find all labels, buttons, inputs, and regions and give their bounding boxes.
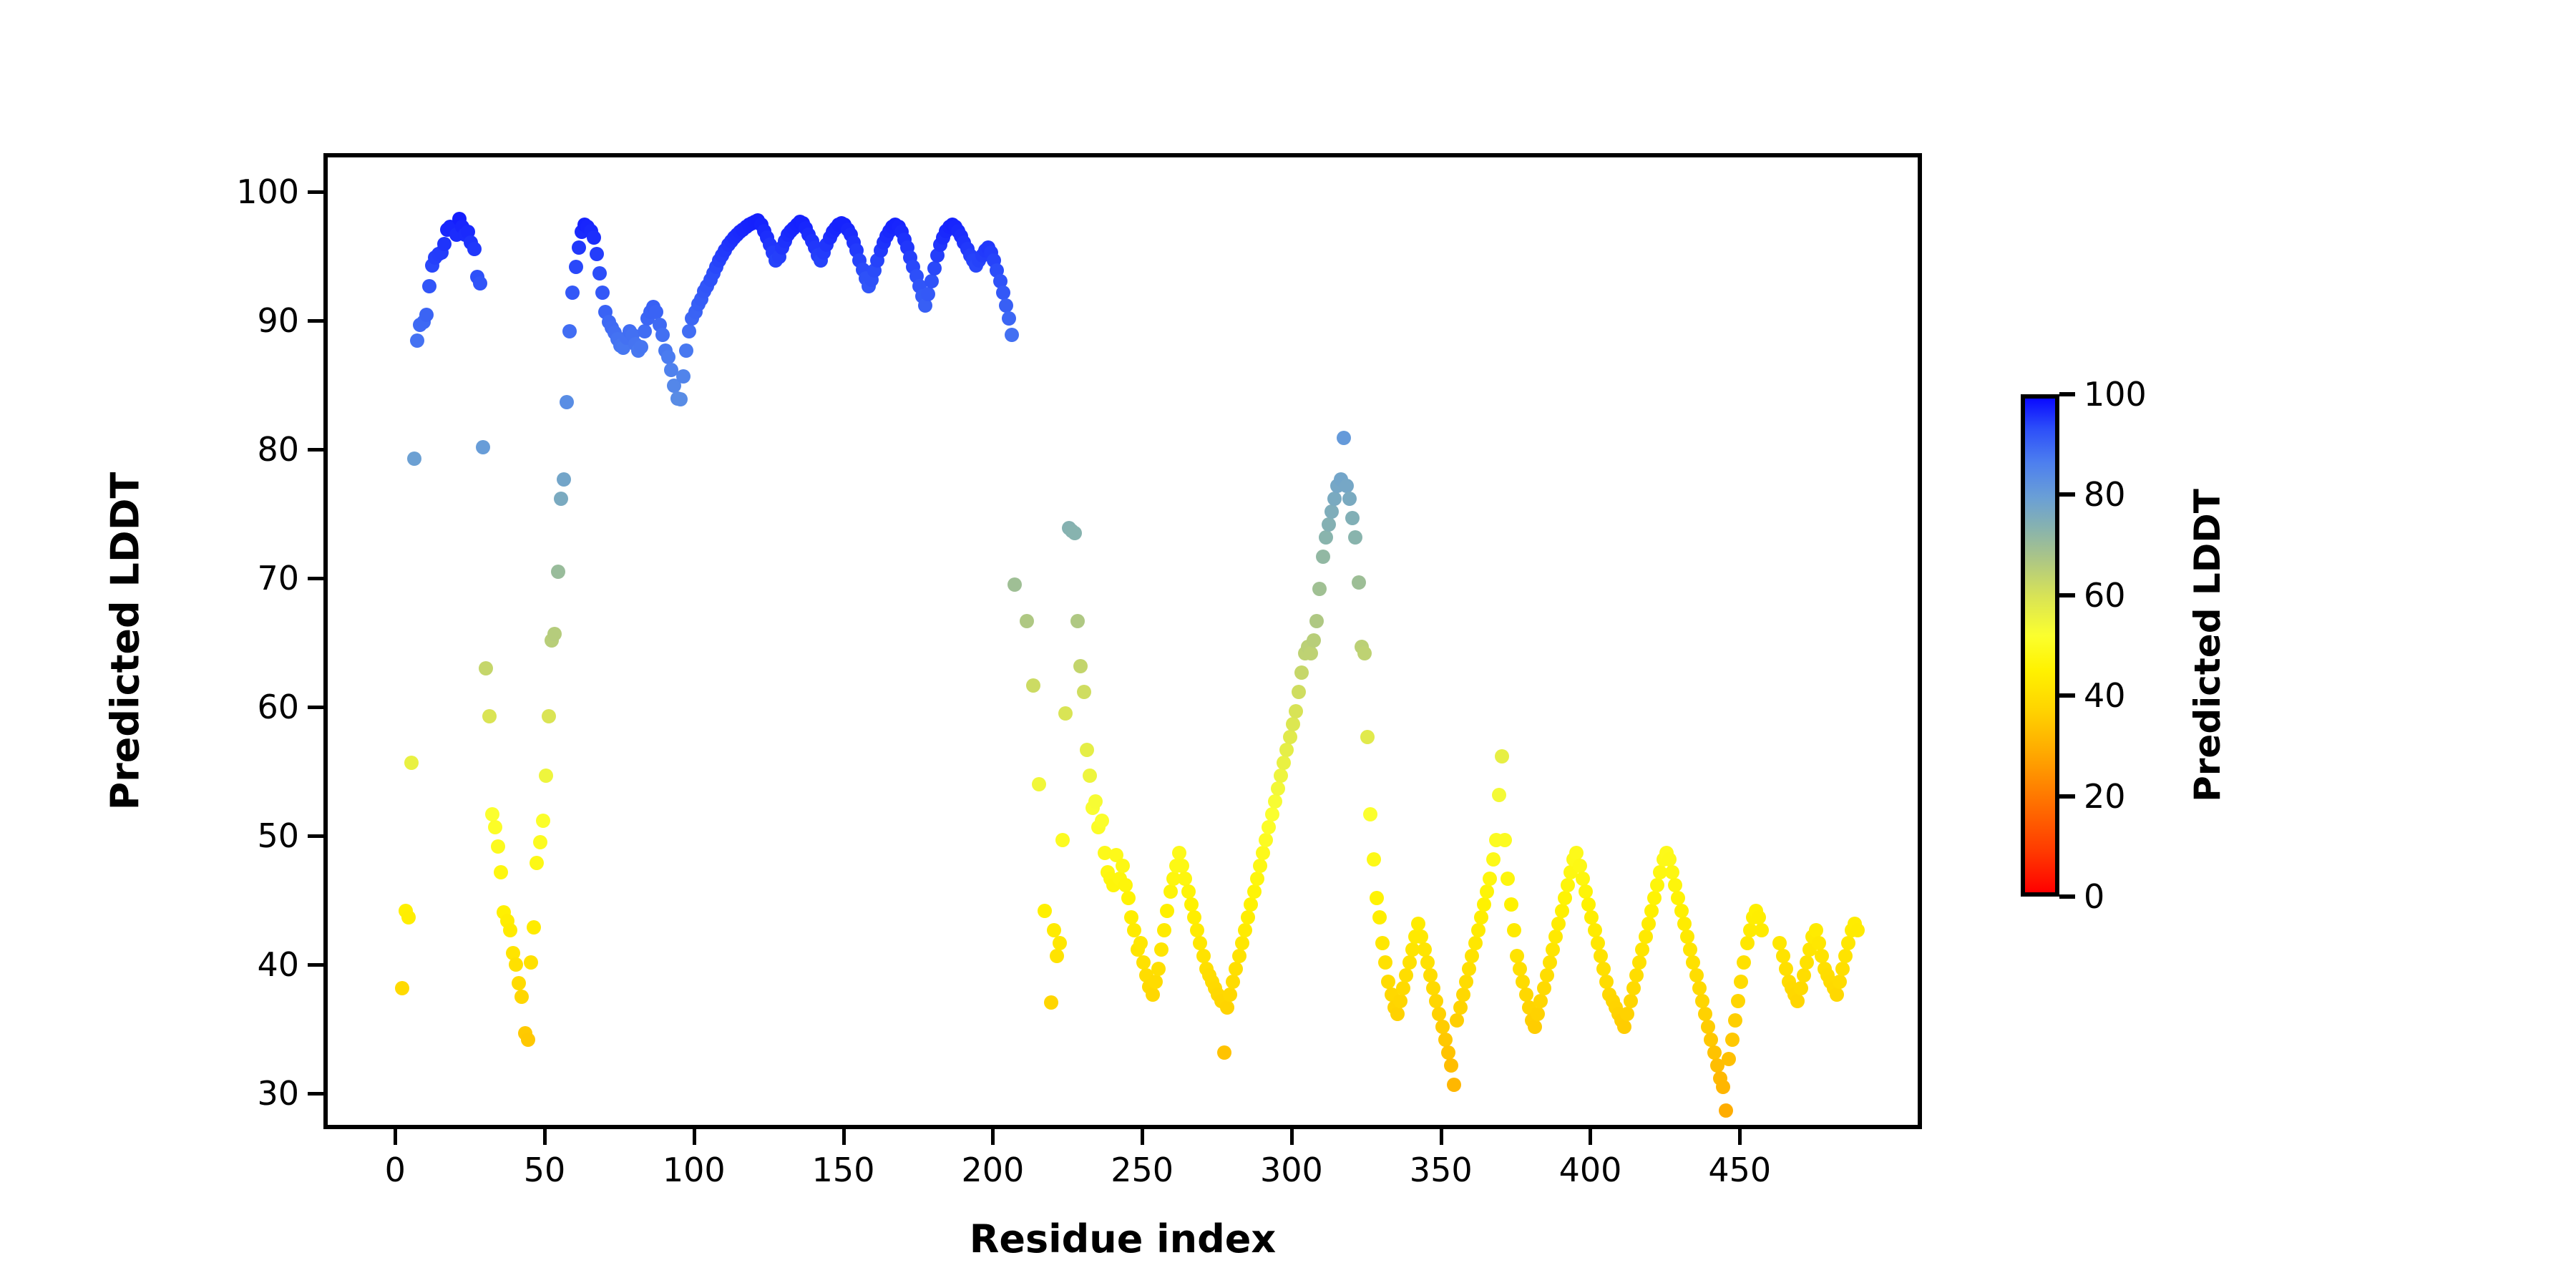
y-tick-label: 30: [257, 1074, 299, 1113]
scatter-point: [1157, 923, 1171, 937]
scatter-point: [1244, 897, 1258, 912]
scatter-point: [1683, 942, 1697, 957]
scatter-point: [1516, 975, 1530, 989]
scatter-point: [1537, 981, 1551, 995]
scatter-point: [1734, 975, 1748, 989]
colorbar-tick: [2059, 794, 2075, 799]
scatter-point: [1841, 936, 1855, 950]
x-tick: [1589, 1129, 1592, 1145]
scatter-point: [1752, 910, 1766, 924]
scatter-point: [1309, 614, 1324, 628]
scatter-point: [1809, 923, 1823, 937]
scatter-point: [542, 709, 556, 723]
scatter-point: [1044, 995, 1058, 1010]
scatter-point: [1453, 1000, 1468, 1015]
scatter-point: [1680, 930, 1694, 944]
x-tick: [1738, 1129, 1742, 1145]
scatter-point: [479, 661, 493, 675]
scatter-point: [1420, 955, 1435, 970]
scatter-point: [1265, 807, 1279, 821]
scatter-point: [1620, 1007, 1634, 1021]
scatter-point: [1220, 1000, 1234, 1015]
scatter-point: [1555, 904, 1569, 918]
scatter-point: [1047, 923, 1061, 937]
scatter-point: [1546, 942, 1560, 957]
scatter-point: [1226, 975, 1240, 989]
scatter-point: [1776, 949, 1790, 963]
scatter-point: [1136, 955, 1151, 970]
scatter-point: [1414, 930, 1428, 944]
scatter-point: [509, 957, 523, 972]
y-tick: [308, 319, 323, 323]
scatter-point: [1558, 891, 1572, 905]
x-tick-label: 50: [524, 1151, 566, 1189]
scatter-point: [1647, 891, 1662, 905]
scatter-point: [1737, 955, 1751, 970]
colorbar-tick-label: 20: [2084, 777, 2126, 816]
scatter-point: [1190, 923, 1204, 937]
scatter-point: [1850, 923, 1865, 937]
scatter-point: [1292, 685, 1306, 699]
scatter-point: [1050, 949, 1064, 963]
scatter-point: [590, 247, 604, 261]
scatter-point: [395, 981, 409, 995]
scatter-point: [1486, 852, 1501, 867]
scatter-point: [1447, 1078, 1461, 1092]
scatter-point: [1148, 975, 1163, 989]
scatter-point: [467, 242, 482, 256]
scatter-point: [1632, 955, 1646, 970]
scatter-point: [1411, 917, 1425, 931]
x-tick-label: 200: [961, 1151, 1024, 1189]
scatter-point: [1088, 794, 1103, 809]
scatter-point: [1175, 859, 1189, 873]
scatter-point: [1307, 633, 1321, 648]
scatter-point: [1070, 614, 1085, 628]
x-tick-label: 350: [1410, 1151, 1473, 1189]
scatter-point: [1283, 730, 1297, 744]
scatter-point: [1393, 994, 1407, 1008]
colorbar-tick: [2059, 894, 2075, 899]
scatter-point: [1372, 910, 1387, 924]
scatter-point: [1367, 852, 1381, 867]
x-tick-label: 0: [385, 1151, 406, 1189]
y-tick-label: 100: [236, 172, 299, 211]
scatter-point: [1579, 884, 1593, 899]
scatter-point: [1519, 987, 1533, 1002]
scatter-point: [407, 452, 421, 466]
scatter-point: [1402, 955, 1417, 970]
scatter-point: [1692, 981, 1707, 995]
scatter-point: [1304, 646, 1318, 660]
scatter-point: [1055, 833, 1070, 847]
scatter-point: [649, 305, 663, 319]
scatter-point: [1217, 1045, 1231, 1060]
scatter-point: [437, 237, 452, 251]
scatter-point: [1662, 852, 1677, 867]
scatter-point: [1247, 884, 1262, 899]
scatter-point: [1701, 1020, 1715, 1034]
scatter-point: [1790, 994, 1805, 1008]
scatter-point: [1650, 878, 1664, 892]
colorbar-tick: [2059, 593, 2075, 597]
y-tick: [308, 834, 323, 838]
x-tick: [842, 1129, 846, 1145]
scatter-point: [491, 839, 505, 854]
scatter-point: [1432, 1007, 1446, 1021]
scatter-point: [539, 769, 553, 783]
scatter-point: [1124, 910, 1138, 924]
scatter-point: [1363, 807, 1377, 821]
scatter-point: [592, 266, 607, 280]
scatter-point: [1477, 897, 1491, 912]
scatter-point: [473, 276, 487, 291]
scatter-point: [1418, 942, 1432, 957]
scatter-points-layer: [328, 157, 1918, 1125]
scatter-point: [569, 260, 583, 274]
colorbar-tick: [2059, 693, 2075, 698]
scatter-point: [533, 835, 547, 849]
scatter-point: [524, 955, 538, 970]
scatter-point: [1815, 949, 1829, 963]
scatter-point: [1573, 859, 1587, 873]
scatter-point: [1504, 897, 1518, 912]
colorbar-tick: [2059, 392, 2075, 396]
scatter-point: [1772, 936, 1787, 950]
scatter-point: [1340, 479, 1354, 493]
scatter-point: [1223, 987, 1237, 1002]
scatter-point: [1674, 904, 1689, 918]
scatter-point: [655, 328, 670, 342]
x-tick: [394, 1129, 397, 1145]
scatter-point: [1707, 1045, 1722, 1060]
scatter-point: [1624, 994, 1638, 1008]
scatter-point: [1032, 777, 1046, 791]
scatter-point: [565, 286, 580, 300]
scatter-point: [1533, 994, 1548, 1008]
scatter-point: [1426, 981, 1440, 995]
scatter-point: [1639, 930, 1653, 944]
scatter-point: [1665, 865, 1679, 879]
scatter-point: [1719, 1103, 1733, 1118]
scatter-point: [1626, 981, 1641, 995]
scatter-point: [557, 472, 571, 487]
x-tick: [1141, 1129, 1144, 1145]
scatter-point: [1561, 878, 1575, 892]
scatter-point: [554, 492, 568, 506]
scatter-point: [1262, 820, 1276, 834]
scatter-point: [1259, 833, 1273, 847]
scatter-point: [1196, 949, 1211, 963]
x-tick-label: 100: [663, 1151, 726, 1189]
scatter-point: [1797, 968, 1811, 982]
scatter-point: [1068, 526, 1082, 540]
scatter-point: [1833, 975, 1847, 989]
y-tick: [308, 448, 323, 452]
scatter-point: [1337, 431, 1351, 445]
scatter-point: [996, 286, 1010, 300]
scatter-point: [401, 910, 416, 924]
x-tick-label: 300: [1260, 1151, 1323, 1189]
scatter-point: [1256, 846, 1270, 860]
scatter-point: [572, 240, 586, 255]
scatter-point: [1695, 994, 1709, 1008]
scatter-point: [924, 274, 939, 288]
scatter-point: [1755, 923, 1769, 937]
scatter-point: [1581, 897, 1596, 912]
scatter-point: [1588, 923, 1602, 937]
scatter-point: [1095, 814, 1109, 828]
scatter-point: [1229, 962, 1243, 976]
scatter-point: [1235, 936, 1249, 950]
scatter-point: [521, 1033, 535, 1047]
scatter-point: [485, 807, 499, 821]
scatter-point: [1548, 930, 1563, 944]
scatter-point: [679, 343, 693, 358]
scatter-point: [1629, 968, 1644, 982]
scatter-point: [1584, 910, 1599, 924]
scatter-point: [1686, 955, 1700, 970]
scatter-point: [1181, 884, 1196, 899]
scatter-point: [1083, 769, 1097, 783]
scatter-point: [1528, 1020, 1542, 1034]
scatter-point: [1020, 614, 1034, 628]
scatter-point: [1468, 936, 1483, 950]
figure-root: 050100150200250300350400450 304050607080…: [0, 0, 2576, 1288]
scatter-point: [1689, 968, 1704, 982]
scatter-point: [1456, 987, 1470, 1002]
scatter-point: [1121, 891, 1136, 905]
scatter-point: [1127, 923, 1141, 937]
scatter-point: [1480, 884, 1494, 899]
colorbar-gradient: [2021, 394, 2059, 897]
scatter-point: [1543, 955, 1557, 970]
scatter-point: [1370, 891, 1384, 905]
scatter-point: [682, 324, 696, 338]
scatter-point: [676, 369, 691, 384]
scatter-point: [488, 820, 502, 834]
colorbar-title: Predicted LDDT: [2187, 489, 2228, 802]
scatter-point: [1053, 936, 1067, 950]
y-tick-label: 90: [257, 301, 299, 340]
scatter-point: [1352, 575, 1366, 590]
scatter-point: [1399, 968, 1413, 982]
x-tick: [543, 1129, 547, 1145]
scatter-point: [1360, 730, 1375, 744]
scatter-point: [494, 865, 508, 879]
scatter-point: [1830, 987, 1844, 1002]
scatter-point: [410, 333, 424, 348]
scatter-point: [1312, 582, 1327, 596]
x-tick: [1440, 1129, 1443, 1145]
scatter-point: [1438, 1033, 1453, 1047]
scatter-point: [1271, 781, 1285, 796]
scatter-point: [1531, 1007, 1545, 1021]
scatter-point: [1591, 936, 1605, 950]
scatter-point: [1241, 910, 1255, 924]
scatter-point: [1444, 1058, 1458, 1073]
y-tick-label: 50: [257, 816, 299, 855]
colorbar-tick-label: 100: [2084, 375, 2147, 414]
scatter-point: [1026, 678, 1040, 693]
scatter-point: [1704, 1033, 1718, 1047]
scatter-point: [1429, 994, 1443, 1008]
scatter-point: [1596, 962, 1611, 976]
scatter-point: [1319, 530, 1333, 545]
colorbar: 020406080100: [2021, 394, 2059, 897]
scatter-point: [1501, 872, 1515, 886]
scatter-point: [1250, 872, 1264, 886]
scatter-point: [1058, 706, 1073, 721]
scatter-point: [476, 440, 490, 454]
scatter-point: [1274, 769, 1288, 783]
scatter-point: [1507, 923, 1521, 937]
scatter-point: [1187, 910, 1201, 924]
scatter-point: [1193, 936, 1207, 950]
scatter-point: [1327, 492, 1342, 506]
scatter-point: [1462, 962, 1476, 976]
scatter-point: [1253, 859, 1267, 873]
x-tick-label: 150: [812, 1151, 875, 1189]
scatter-point: [1495, 749, 1509, 763]
scatter-point: [634, 340, 648, 354]
scatter-point: [419, 308, 434, 322]
scatter-point: [1677, 917, 1692, 931]
y-tick: [308, 1092, 323, 1096]
scatter-point: [1465, 949, 1479, 963]
scatter-point: [1435, 1020, 1450, 1034]
scatter-point: [1118, 878, 1133, 892]
scatter-point: [1441, 1045, 1455, 1060]
scatter-point: [661, 350, 675, 364]
scatter-point: [1698, 1007, 1712, 1021]
y-axis-label: Predicted LDDT: [103, 472, 148, 811]
scatter-point: [1322, 517, 1336, 532]
scatter-point: [1838, 949, 1853, 963]
scatter-point: [595, 286, 610, 300]
scatter-point: [1077, 685, 1091, 699]
colorbar-tick: [2059, 492, 2075, 497]
scatter-point: [1498, 833, 1512, 847]
colorbar-tick-label: 80: [2084, 475, 2126, 514]
scatter-point: [547, 627, 562, 641]
scatter-point: [1080, 743, 1094, 757]
scatter-point: [530, 856, 544, 870]
scatter-point: [1423, 968, 1438, 982]
y-tick: [308, 706, 323, 709]
scatter-point: [1492, 788, 1506, 802]
scatter-point: [1569, 846, 1584, 860]
scatter-point: [1390, 1007, 1405, 1021]
scatter-point: [1002, 311, 1016, 326]
scatter-point: [1725, 1033, 1740, 1047]
scatter-point: [1116, 859, 1130, 873]
scatter-point: [1172, 846, 1186, 860]
scatter-point: [1038, 904, 1052, 918]
scatter-point: [1160, 904, 1174, 918]
scatter-point: [1812, 936, 1826, 950]
scatter-point: [1740, 936, 1755, 950]
scatter-point: [1146, 987, 1160, 1002]
scatter-point: [1232, 949, 1246, 963]
scatter-point: [1133, 936, 1148, 950]
scatter-point: [527, 920, 541, 935]
x-tick: [991, 1129, 995, 1145]
scatter-point: [1728, 1013, 1742, 1028]
scatter-point: [1154, 942, 1169, 957]
scatter-point: [1800, 955, 1814, 970]
scatter-axes: [323, 153, 1922, 1129]
scatter-point: [1644, 904, 1659, 918]
scatter-point: [1008, 577, 1022, 592]
scatter-point: [1396, 981, 1410, 995]
scatter-point: [1474, 910, 1488, 924]
y-tick-label: 40: [257, 945, 299, 984]
scatter-point: [1483, 872, 1497, 886]
scatter-point: [1471, 923, 1485, 937]
scatter-point: [1375, 936, 1390, 950]
scatter-point: [1779, 962, 1793, 976]
scatter-point: [1005, 328, 1019, 342]
scatter-point: [1286, 717, 1300, 731]
x-tick-label: 400: [1559, 1151, 1622, 1189]
scatter-point: [560, 395, 574, 409]
scatter-point: [927, 261, 942, 275]
y-tick: [308, 190, 323, 194]
scatter-point: [1731, 994, 1745, 1008]
scatter-point: [1294, 665, 1309, 680]
scatter-point: [1316, 550, 1330, 564]
y-tick: [308, 963, 323, 967]
scatter-point: [503, 923, 517, 937]
x-tick-label: 250: [1111, 1151, 1174, 1189]
scatter-point: [587, 230, 601, 245]
scatter-point: [1551, 917, 1566, 931]
scatter-point: [1163, 884, 1178, 899]
scatter-point: [1378, 955, 1392, 970]
scatter-point: [1381, 975, 1395, 989]
scatter-point: [921, 287, 935, 301]
y-tick-label: 70: [257, 559, 299, 597]
scatter-point: [1268, 794, 1282, 809]
scatter-point: [1641, 917, 1656, 931]
scatter-point: [1345, 511, 1360, 525]
scatter-point: [1722, 1052, 1736, 1066]
scatter-point: [512, 976, 526, 990]
scatter-point: [1716, 1080, 1730, 1094]
scatter-point: [1599, 975, 1614, 989]
scatter-point: [1668, 878, 1682, 892]
scatter-point: [1357, 646, 1372, 660]
scatter-point: [404, 756, 419, 770]
scatter-point: [536, 814, 550, 828]
colorbar-tick-label: 40: [2084, 676, 2126, 715]
x-tick: [1290, 1129, 1294, 1145]
colorbar-tick-label: 0: [2084, 877, 2104, 916]
scatter-point: [551, 565, 565, 579]
scatter-point: [1073, 659, 1088, 673]
scatter-point: [1238, 923, 1252, 937]
scatter-point: [1617, 1020, 1631, 1034]
scatter-point: [514, 990, 529, 1004]
scatter-point: [1576, 872, 1590, 886]
y-tick-label: 80: [257, 430, 299, 469]
scatter-point: [1835, 962, 1850, 976]
x-tick-label: 450: [1708, 1151, 1771, 1189]
scatter-point: [1324, 504, 1339, 519]
scatter-point: [422, 279, 436, 293]
scatter-point: [1635, 942, 1649, 957]
